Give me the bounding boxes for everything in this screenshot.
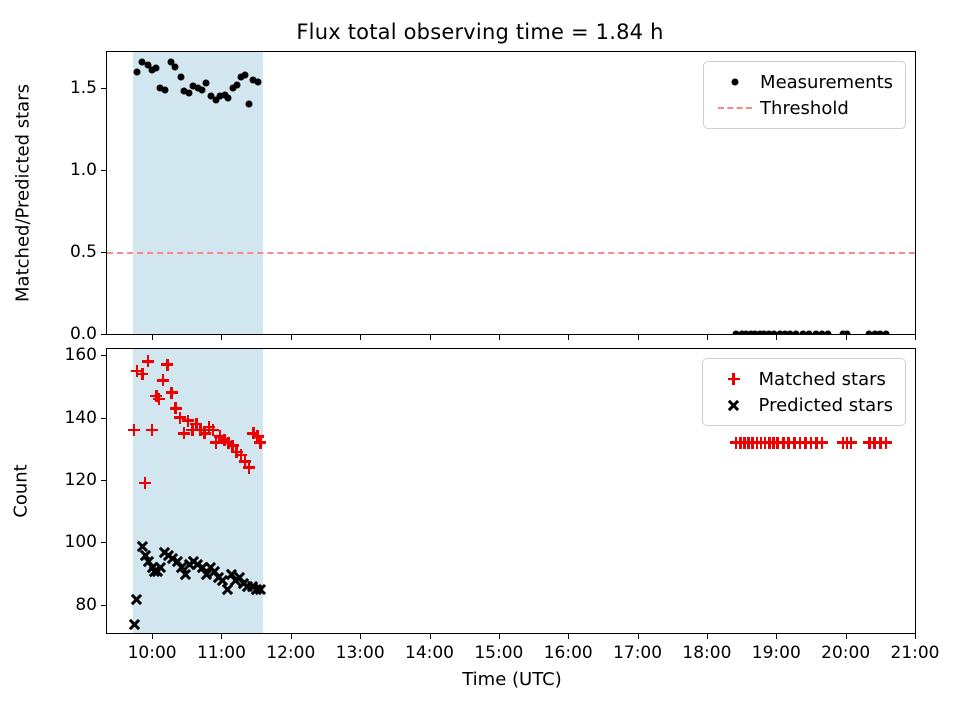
y-tick-mark [101,480,107,481]
plus-marker-icon [713,369,755,389]
y-tick-mark [101,170,107,171]
x-tick-mark [360,633,361,639]
count-legend: Matched stars Predicted stars [702,358,906,426]
y-tick-label: 0.5 [70,242,97,262]
x-tick-mark [568,334,569,340]
data-point [233,81,240,88]
x-tick-mark [707,633,708,639]
y-tick-mark [101,418,107,419]
x-tick-mark [221,633,222,639]
legend-label-threshold: Threshold [756,98,849,119]
x-tick-label: 13:00 [336,643,385,663]
legend-label-measurements: Measurements [756,72,893,93]
data-point [171,63,178,70]
x-tick-label: 14:00 [405,643,454,663]
x-tick-label: 17:00 [613,643,662,663]
x-tick-mark [776,633,777,639]
x-tick-mark [499,633,500,639]
x-tick-mark [568,633,569,639]
y-tick-label: 160 [65,345,97,365]
data-point [135,367,149,381]
x-tick-label: 10:00 [128,643,177,663]
x-tick-label: 19:00 [752,643,801,663]
data-point [242,71,249,78]
y-tick-label: 140 [65,408,97,428]
data-point [882,331,889,335]
x-tick-mark [430,633,431,639]
x-tick-label: 20:00 [821,643,870,663]
x-tick-mark [846,633,847,639]
ratio-legend: Measurements Threshold [703,61,906,129]
data-point [253,582,267,596]
legend-label-predicted-stars: Predicted stars [755,395,893,416]
x-tick-mark [707,334,708,340]
x-tick-mark [846,334,847,340]
data-point [185,89,192,96]
x-tick-label: 12:00 [266,643,315,663]
dashed-line-marker-icon [714,98,756,118]
data-point [138,476,152,490]
x-tick-mark [499,334,500,340]
y-tick-label: 1.0 [70,160,97,180]
x-tick-label: 18:00 [682,643,731,663]
x-tick-mark [915,334,916,340]
y-tick-label: 1.5 [70,78,97,98]
chart-title: Flux total observing time = 1.84 h [0,20,960,44]
data-point [153,65,160,72]
data-point [792,331,799,335]
x-tick-mark [360,334,361,340]
x-tick-mark [638,334,639,340]
data-point [177,73,184,80]
y-tick-mark [101,355,107,356]
y-tick-label: 120 [65,470,97,490]
x-tick-mark [291,334,292,340]
data-point [160,358,174,372]
data-point [246,101,253,108]
count-y-axis-label: Count [11,391,32,591]
x-tick-mark [638,633,639,639]
ratio-y-axis-label: Matched/Predicted stars [13,63,34,323]
y-tick-mark [101,252,107,253]
data-point [127,423,141,437]
data-point [824,331,831,335]
data-point [130,592,144,606]
data-point [203,80,210,87]
x-tick-label: 15:00 [474,643,523,663]
data-point [225,94,232,101]
data-point [844,331,851,335]
data-point [141,354,155,368]
legend-item-threshold: Threshold [714,95,893,121]
data-point [844,436,858,450]
data-point [253,436,267,450]
y-tick-mark [101,542,107,543]
y-tick-mark [101,334,107,335]
data-point [145,423,159,437]
figure-canvas: Flux total observing time = 1.84 h 0.00.… [0,0,960,720]
shaded-observation-window [133,52,263,334]
data-point [161,86,168,93]
data-point [133,68,140,75]
count-panel: 8010012014016010:0011:0012:0013:0014:001… [106,348,916,634]
ratio-panel: 0.00.51.01.5 Matched/Predicted stars Mea… [106,51,916,335]
y-tick-mark [101,605,107,606]
x-tick-mark [915,633,916,639]
x-tick-mark [152,334,153,340]
data-point [165,386,179,400]
y-tick-label: 80 [75,595,97,615]
legend-item-measurements: Measurements [714,69,893,95]
data-point [127,617,141,631]
data-point [242,461,256,475]
y-tick-label: 0.0 [70,324,97,344]
x-tick-label: 16:00 [544,643,593,663]
data-point [815,436,829,450]
y-tick-label: 100 [65,532,97,552]
x-tick-mark [291,633,292,639]
x-tick-mark [776,334,777,340]
legend-label-matched-stars: Matched stars [755,369,886,390]
y-tick-mark [101,88,107,89]
x-tick-mark [152,633,153,639]
data-point [805,331,812,335]
x-tick-mark [221,334,222,340]
legend-item-predicted-stars: Predicted stars [713,392,893,418]
data-point [254,78,261,85]
threshold-line [107,252,915,254]
x-tick-label: 21:00 [891,643,940,663]
x-axis-label: Time (UTC) [107,669,917,690]
x-tick-label: 11:00 [197,643,246,663]
data-point [199,86,206,93]
cross-marker-icon [713,395,755,415]
dot-marker-icon [714,72,756,92]
x-tick-mark [430,334,431,340]
legend-item-matched-stars: Matched stars [713,366,893,392]
data-point [879,436,893,450]
